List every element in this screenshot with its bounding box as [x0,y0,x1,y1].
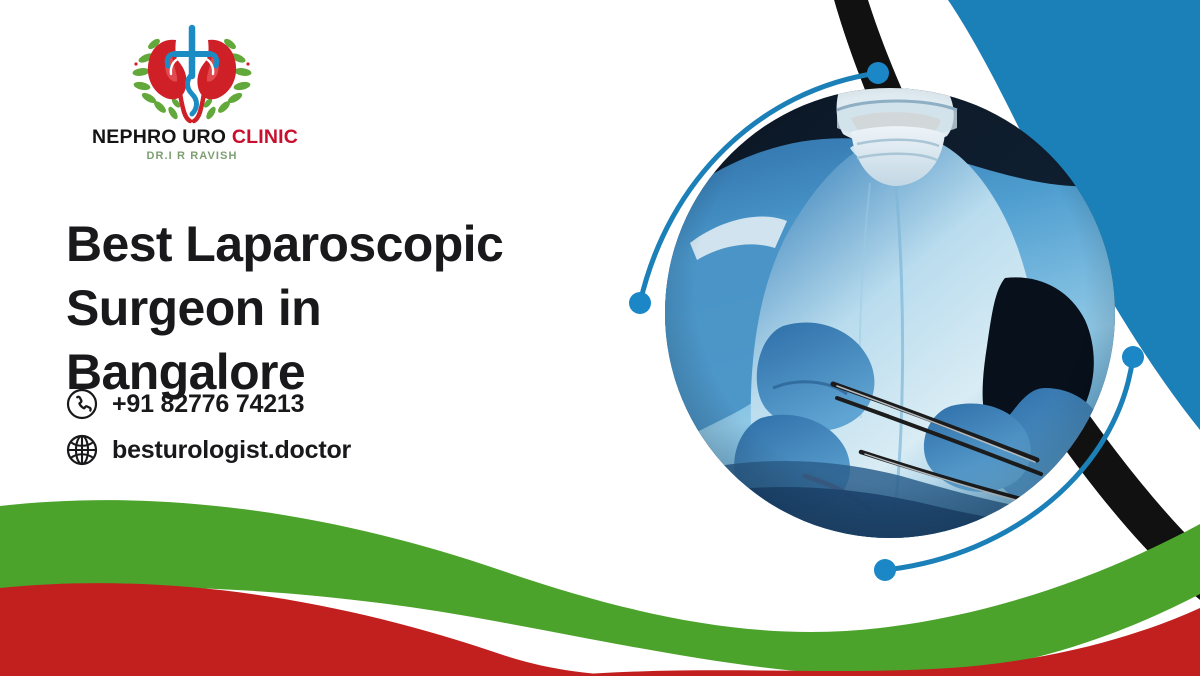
headline-line-2: Surgeon in [66,276,626,340]
kidney-caduceus-laurel-logo-icon [118,14,266,126]
logo-wordmark-primary: NEPHRO URO [92,126,226,148]
headline-line-1: Best Laparoscopic [66,212,626,276]
logo-subtitle: DR.I R RAVISH [92,150,292,162]
contact-website[interactable]: besturologist.doctor [66,434,351,466]
clinic-promo-banner: NEPHRO URO CLINIC DR.I R RAVISH Best Lap… [0,0,1200,676]
contact-website-value: besturologist.doctor [112,436,351,465]
globe-icon [66,434,98,466]
laparoscopic-surgery-photo [665,88,1115,538]
logo-wordmark: NEPHRO URO CLINIC [92,127,292,147]
contact-phone[interactable]: +91 82776 74213 [66,388,351,420]
surgery-scene-illustration [665,88,1115,538]
logo-wordmark-accent: CLINIC [232,126,298,148]
phone-icon [66,388,98,420]
page-title: Best Laparoscopic Surgeon in Bangalore [66,212,626,404]
clinic-logo[interactable]: NEPHRO URO CLINIC DR.I R RAVISH [92,14,292,162]
contact-phone-value: +91 82776 74213 [112,390,304,419]
contact-list: +91 82776 74213 besturologist.doctor [66,388,351,480]
